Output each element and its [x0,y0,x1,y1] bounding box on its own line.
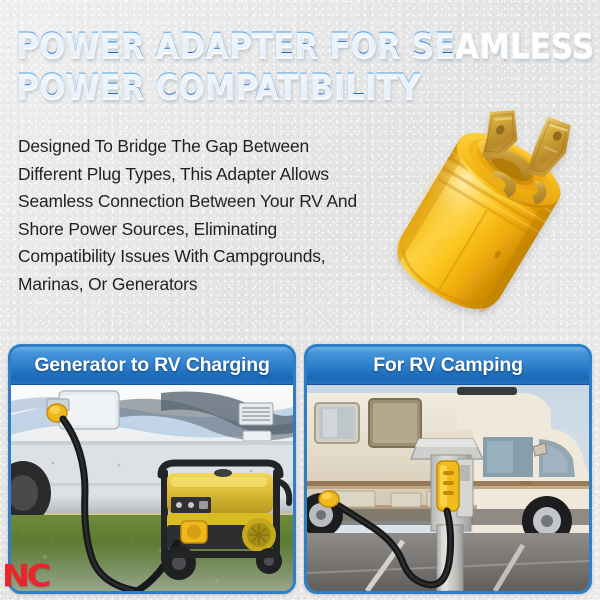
product-image-adapter [362,78,598,328]
panel-banner-camping: For RV Camping [307,347,589,385]
watermark-logo-text: NC [2,560,65,594]
panel-banner-label-generator: Generator to RV Charging [34,354,269,377]
watermark-logo: NC [2,560,58,594]
headline-line-1: POWER ADAPTER FOR SEAMLESS [16,26,456,67]
infographic-canvas: POWER ADAPTER FOR SEAMLESS POWER COMPATI… [0,0,600,600]
panel-banner-label-camping: For RV Camping [373,354,523,377]
photo-rv-pedestal [307,385,589,591]
panel-banner-generator: Generator to RV Charging [11,347,293,385]
description-paragraph: Designed To Bridge The Gap Between Diffe… [18,133,368,298]
panel-for-rv-camping[interactable]: For RV Camping [304,344,592,594]
panel-generator-to-rv[interactable]: Generator to RV Charging [8,344,296,594]
